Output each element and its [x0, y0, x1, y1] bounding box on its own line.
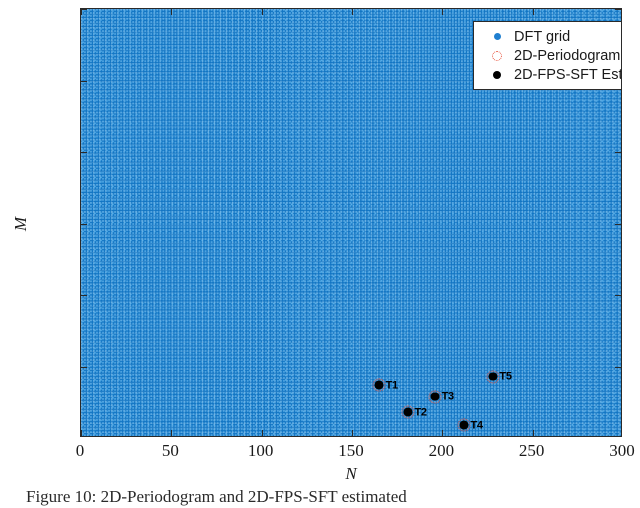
legend-label-dft-grid: DFT grid — [514, 29, 570, 45]
x-tick-mark — [533, 430, 534, 436]
data-point-t5: T5 — [486, 370, 499, 383]
y-tick-mark-right — [615, 9, 621, 10]
y-tick-mark-right — [615, 224, 621, 225]
black-filled-circle-marker-icon — [460, 421, 469, 430]
x-tick-mark — [262, 430, 263, 436]
data-point-t1: T1 — [373, 379, 386, 392]
legend-label-periodogram: 2D-Periodogram Estimated — [514, 48, 622, 64]
y-tick-mark — [81, 295, 87, 296]
data-point-t4: T4 — [458, 419, 471, 432]
black-filled-circle-marker-icon — [431, 392, 440, 401]
legend-label-fpssft: 2D-FPS-SFT Estimated — [514, 67, 622, 83]
black-filled-circle-marker-icon — [480, 65, 514, 84]
x-tick-mark — [81, 430, 82, 436]
legend-entry-fpssft: 2D-FPS-SFT Estimated — [480, 65, 622, 84]
x-tick-label: 50 — [162, 441, 179, 461]
data-point-t3: T3 — [429, 390, 442, 403]
black-filled-circle-marker-icon — [489, 372, 498, 381]
data-point-label: T1 — [386, 379, 398, 391]
figure-container: T1T2T3T4T5 DFT grid 2D-Periodogram Estim… — [0, 0, 640, 508]
y-tick-mark — [81, 9, 87, 10]
x-tick-label: 150 — [338, 441, 364, 461]
x-tick-mark-top — [262, 9, 263, 15]
x-tick-label: 200 — [429, 441, 455, 461]
x-tick-mark — [171, 430, 172, 436]
data-point-t2: T2 — [402, 406, 415, 419]
x-tick-label: 250 — [519, 441, 545, 461]
figure-caption: Figure 10: 2D-Periodogram and 2D-FPS-SFT… — [26, 487, 626, 507]
data-point-label: T3 — [442, 391, 454, 403]
data-point-label: T4 — [471, 419, 483, 431]
x-tick-label: 300 — [609, 441, 635, 461]
legend-entry-dft-grid: DFT grid — [480, 27, 622, 46]
x-tick-mark-top — [352, 9, 353, 15]
x-axis-label: N — [345, 464, 356, 484]
y-tick-mark — [81, 224, 87, 225]
x-tick-mark — [442, 430, 443, 436]
y-tick-mark — [81, 81, 87, 82]
y-tick-mark-right — [615, 295, 621, 296]
y-tick-mark-right — [615, 152, 621, 153]
x-tick-mark-top — [533, 9, 534, 15]
blue-filled-circle-marker-icon — [480, 27, 514, 46]
black-filled-circle-marker-icon — [404, 408, 413, 417]
y-tick-mark — [81, 152, 87, 153]
x-tick-label: 0 — [76, 441, 85, 461]
legend-entry-periodogram: 2D-Periodogram Estimated — [480, 46, 622, 65]
x-tick-mark — [352, 430, 353, 436]
x-tick-mark-top — [442, 9, 443, 15]
data-point-label: T2 — [415, 406, 427, 418]
plot-area: T1T2T3T4T5 DFT grid 2D-Periodogram Estim… — [80, 8, 622, 437]
x-tick-mark-top — [171, 9, 172, 15]
y-tick-mark — [81, 367, 87, 368]
y-axis-label: M — [11, 217, 31, 231]
data-point-label: T5 — [499, 371, 511, 383]
y-tick-mark-right — [615, 367, 621, 368]
legend: DFT grid 2D-Periodogram Estimated 2D-FPS… — [473, 21, 622, 90]
black-filled-circle-marker-icon — [375, 381, 384, 390]
red-open-circle-marker-icon — [480, 46, 514, 65]
x-tick-label: 100 — [248, 441, 274, 461]
